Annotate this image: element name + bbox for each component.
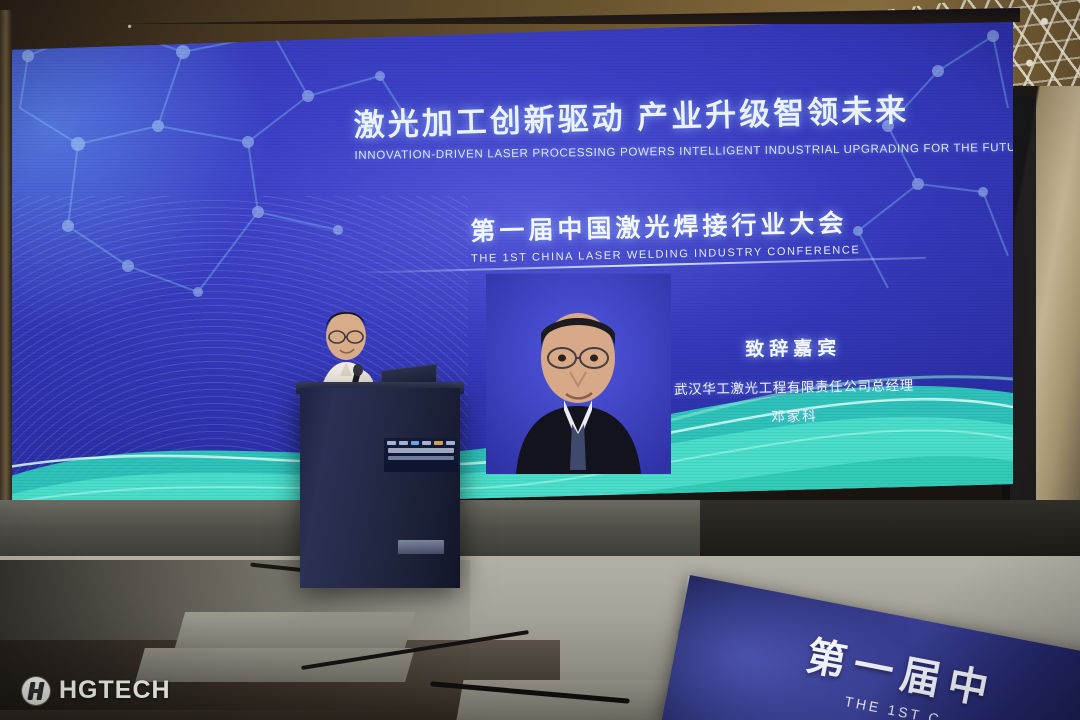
hgtech-logo-icon bbox=[22, 677, 50, 705]
stage-steps-icon bbox=[175, 612, 415, 648]
speaker-info: 致辞嘉宾 武汉华工激光工程有限责任公司总经理 邓家科 bbox=[648, 331, 940, 427]
headline-english: INNOVATION-DRIVEN LASER PROCESSING POWER… bbox=[354, 143, 934, 162]
led-display-screen: 激光加工创新驱动 产业升级智领未来 INNOVATION-DRIVEN LASE… bbox=[8, 16, 1013, 511]
hgtech-brand-text: HGTECH bbox=[59, 676, 171, 705]
screen-subheadline: 第一届中国激光焊接行业大会 THE 1ST CHINA LASER WELDIN… bbox=[470, 202, 921, 265]
speaker-portrait-photo bbox=[486, 274, 671, 474]
headline-chinese: 激光加工创新驱动 产业升级智领未来 bbox=[353, 84, 934, 145]
lectern-signage bbox=[384, 438, 458, 472]
conference-stage-photo: 激光加工创新驱动 产业升级智领未来 INNOVATION-DRIVEN LASE… bbox=[0, 0, 1080, 720]
screen-frame-left bbox=[0, 10, 12, 510]
screen-content: 激光加工创新驱动 产业升级智领未来 INNOVATION-DRIVEN LASE… bbox=[8, 16, 1013, 511]
speaker-organization: 武汉华工激光工程有限责任公司总经理 bbox=[649, 373, 939, 398]
hgtech-watermark: HGTECH bbox=[22, 676, 171, 705]
speaker-role: 致辞嘉宾 bbox=[648, 331, 938, 363]
stage-step-lower bbox=[135, 648, 415, 682]
speaker-name: 邓家科 bbox=[649, 402, 939, 427]
lectern-title-line bbox=[388, 448, 454, 453]
sponsor-logo-strip bbox=[384, 438, 458, 445]
subhead-chinese: 第一届中国激光焊接行业大会 bbox=[470, 202, 921, 248]
lectern-icon bbox=[300, 388, 460, 588]
screen-headline: 激光加工创新驱动 产业升级智领未来 INNOVATION-DRIVEN LASE… bbox=[353, 84, 935, 162]
lectern-subtitle-line bbox=[388, 456, 454, 460]
lectern-bottom-logo bbox=[398, 540, 444, 554]
